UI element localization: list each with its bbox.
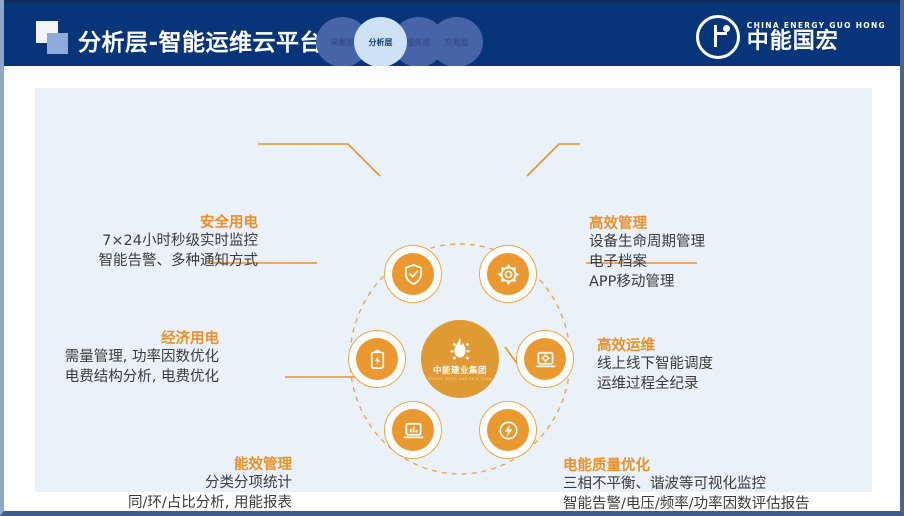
- header-logo-mark-icon: [36, 21, 70, 55]
- node-efficient-operations[interactable]: [516, 330, 574, 388]
- block-line: 智能告警/电压/频率/功率因数评估报告: [563, 495, 810, 515]
- brand-logo: CHINA ENERGY GUO HONG 中能国宏: [696, 17, 886, 57]
- layer-pill-label: 分析层: [369, 37, 393, 48]
- text-block-power-quality: 电能质量优化 三相不平衡、谐波等可视化监控 智能告警/电压/频率/功率因数评估报…: [563, 458, 810, 515]
- block-line: 电费结构分析, 电费优化: [65, 368, 219, 388]
- text-block-economic-power: 经济用电 需量管理, 功率因数优化 电费结构分析, 电费优化: [65, 331, 219, 388]
- block-title: 经济用电: [65, 331, 219, 348]
- block-title: 安全用电: [99, 215, 259, 232]
- layer-pill-label: 服务层: [407, 37, 431, 48]
- slide-header: 分析层-智能运维云平台 采集层 分析层 服务层 交易层 CHINA ENERGY…: [4, 0, 900, 66]
- brand-text: CHINA ENERGY GUO HONG 中能国宏: [747, 21, 886, 53]
- logo-square-blue: [47, 33, 68, 54]
- block-line: 需量管理, 功率因数优化: [65, 348, 219, 368]
- slide-root: 分析层-智能运维云平台 采集层 分析层 服务层 交易层 CHINA ENERGY…: [0, 0, 904, 516]
- hub-name-pinyin: ZHONG NENG JIAN YE JI TUAN: [428, 378, 492, 382]
- node-energy-efficiency[interactable]: [384, 401, 442, 459]
- layer-pill-analysis[interactable]: 分析层: [354, 17, 407, 66]
- bolt-circle-icon: [497, 419, 520, 442]
- block-line: 电子档案: [589, 253, 705, 273]
- battery-bolt-icon: [366, 348, 389, 371]
- brand-chinese-name: 中能国宏: [747, 31, 886, 53]
- block-line: 三相不平衡、谐波等可视化监控: [563, 475, 810, 495]
- page-title: 分析层-智能运维云平台: [78, 23, 323, 57]
- block-line: APP移动管理: [589, 273, 705, 293]
- node-efficient-management[interactable]: [479, 245, 537, 303]
- block-line: 7×24小时秒级实时监控: [99, 232, 259, 252]
- block-title: 高效运维: [597, 338, 713, 355]
- brand-emblem-dot: [723, 25, 730, 32]
- node-disc: [392, 253, 434, 295]
- layer-pill-trading[interactable]: 交易层: [430, 17, 483, 66]
- hub-emblem: 中能建业集团 ZHONG NENG JIAN YE JI TUAN: [421, 320, 499, 398]
- block-line: 设备生命周期管理: [589, 233, 705, 253]
- node-disc: [487, 253, 529, 295]
- block-line: 同/环/占比分析, 用能报表: [128, 494, 292, 514]
- node-disc: [392, 409, 434, 451]
- node-power-quality[interactable]: [479, 401, 537, 459]
- layer-pill-label: 交易层: [445, 37, 469, 48]
- block-title: 电能质量优化: [563, 458, 810, 475]
- block-title: 高效管理: [589, 216, 705, 233]
- node-economic-power[interactable]: [348, 330, 406, 388]
- laptop-gear-icon: [534, 348, 557, 371]
- block-line: 运维过程全纪录: [597, 375, 713, 395]
- brand-emblem-icon: [696, 15, 740, 59]
- block-line: 线上线下智能调度: [597, 355, 713, 375]
- layer-pill-label: 采集层: [331, 37, 355, 48]
- block-title: 能效管理: [128, 457, 292, 474]
- node-disc: [356, 338, 398, 380]
- hub-name-cn: 中能建业集团: [433, 367, 487, 376]
- text-block-efficient-operations: 高效运维 线上线下智能调度 运维过程全纪录: [597, 338, 713, 395]
- text-block-energy-efficiency: 能效管理 分类分项统计 同/环/占比分析, 用能报表: [128, 457, 292, 514]
- flame-gear-icon: [445, 336, 475, 366]
- text-block-safe-power: 安全用电 7×24小时秒级实时监控 智能告警、多种通知方式: [99, 215, 259, 272]
- gear-icon: [497, 263, 520, 286]
- laptop-chart-icon: [402, 419, 425, 442]
- text-block-efficient-management: 高效管理 设备生命周期管理 电子档案 APP移动管理: [589, 216, 705, 292]
- shield-check-icon: [402, 263, 425, 286]
- node-safe-power[interactable]: [384, 245, 442, 303]
- node-disc: [487, 409, 529, 451]
- node-disc: [524, 338, 566, 380]
- diagram-panel: 中能建业集团 ZHONG NENG JIAN YE JI TUAN: [35, 88, 872, 492]
- block-line: 分类分项统计: [128, 474, 292, 494]
- block-line: 智能告警、多种通知方式: [99, 252, 259, 272]
